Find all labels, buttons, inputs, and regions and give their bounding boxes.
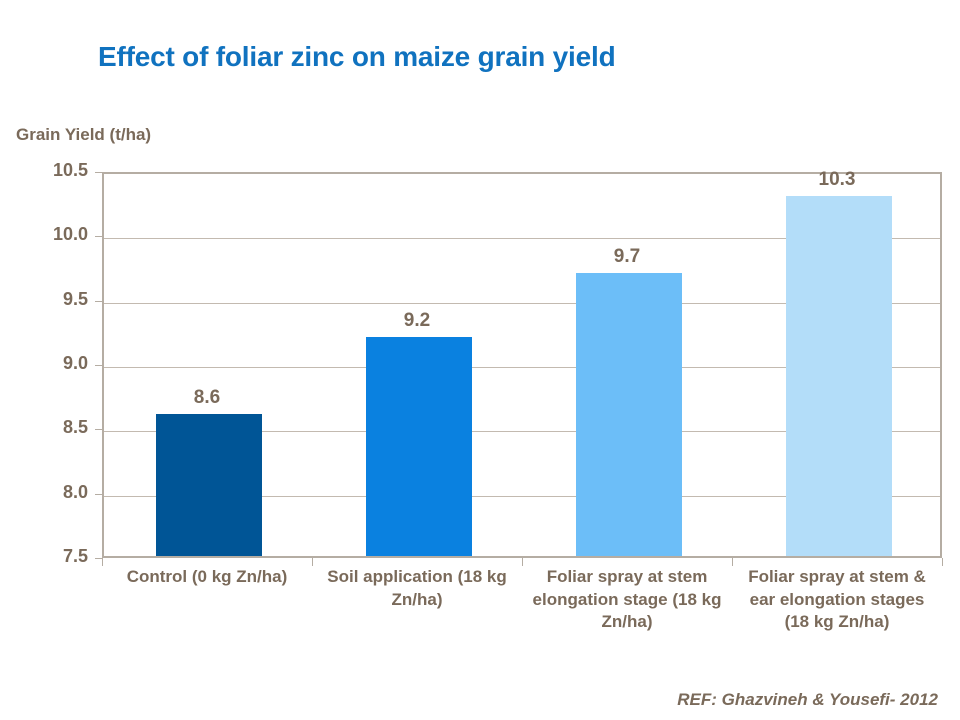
x-axis-category-labels: Control (0 kg Zn/ha) Soil application (1… — [102, 566, 942, 686]
x-tick-separator — [102, 558, 103, 566]
x-tick-separator — [942, 558, 943, 566]
bar[interactable] — [366, 337, 472, 556]
x-tick-separator — [312, 558, 313, 566]
category-label: Foliar spray at stem & ear elongation st… — [738, 566, 936, 634]
bar[interactable] — [576, 273, 682, 556]
y-tick-label: 7.5 — [0, 546, 88, 567]
y-tick-label: 10.0 — [0, 224, 88, 245]
y-tick-label: 8.0 — [0, 482, 88, 503]
category-label: Soil application (18 kg Zn/ha) — [318, 566, 516, 611]
chart-title: Effect of foliar zinc on maize grain yie… — [98, 41, 615, 73]
plot-area — [102, 172, 942, 558]
category-label: Foliar spray at stem elongation stage (1… — [528, 566, 726, 634]
bar[interactable] — [786, 196, 892, 556]
y-axis-tick-labels: 10.5 10.0 9.5 9.0 8.5 8.0 7.5 — [0, 0, 94, 720]
bar-value-label: 9.2 — [357, 310, 477, 332]
bar-value-label: 9.7 — [567, 246, 687, 268]
y-tick-label: 9.5 — [0, 289, 88, 310]
x-tick-separator — [522, 558, 523, 566]
y-tick-label: 10.5 — [0, 160, 88, 181]
bar-value-label: 8.6 — [147, 387, 267, 409]
y-tick-label: 8.5 — [0, 417, 88, 438]
category-label: Control (0 kg Zn/ha) — [108, 566, 306, 589]
x-tick-separator — [732, 558, 733, 566]
bar[interactable] — [156, 414, 262, 556]
reference-annotation: REF: Ghazvineh & Yousefi- 2012 — [677, 690, 938, 710]
bar-value-label: 10.3 — [777, 169, 897, 191]
y-tick-label: 9.0 — [0, 353, 88, 374]
